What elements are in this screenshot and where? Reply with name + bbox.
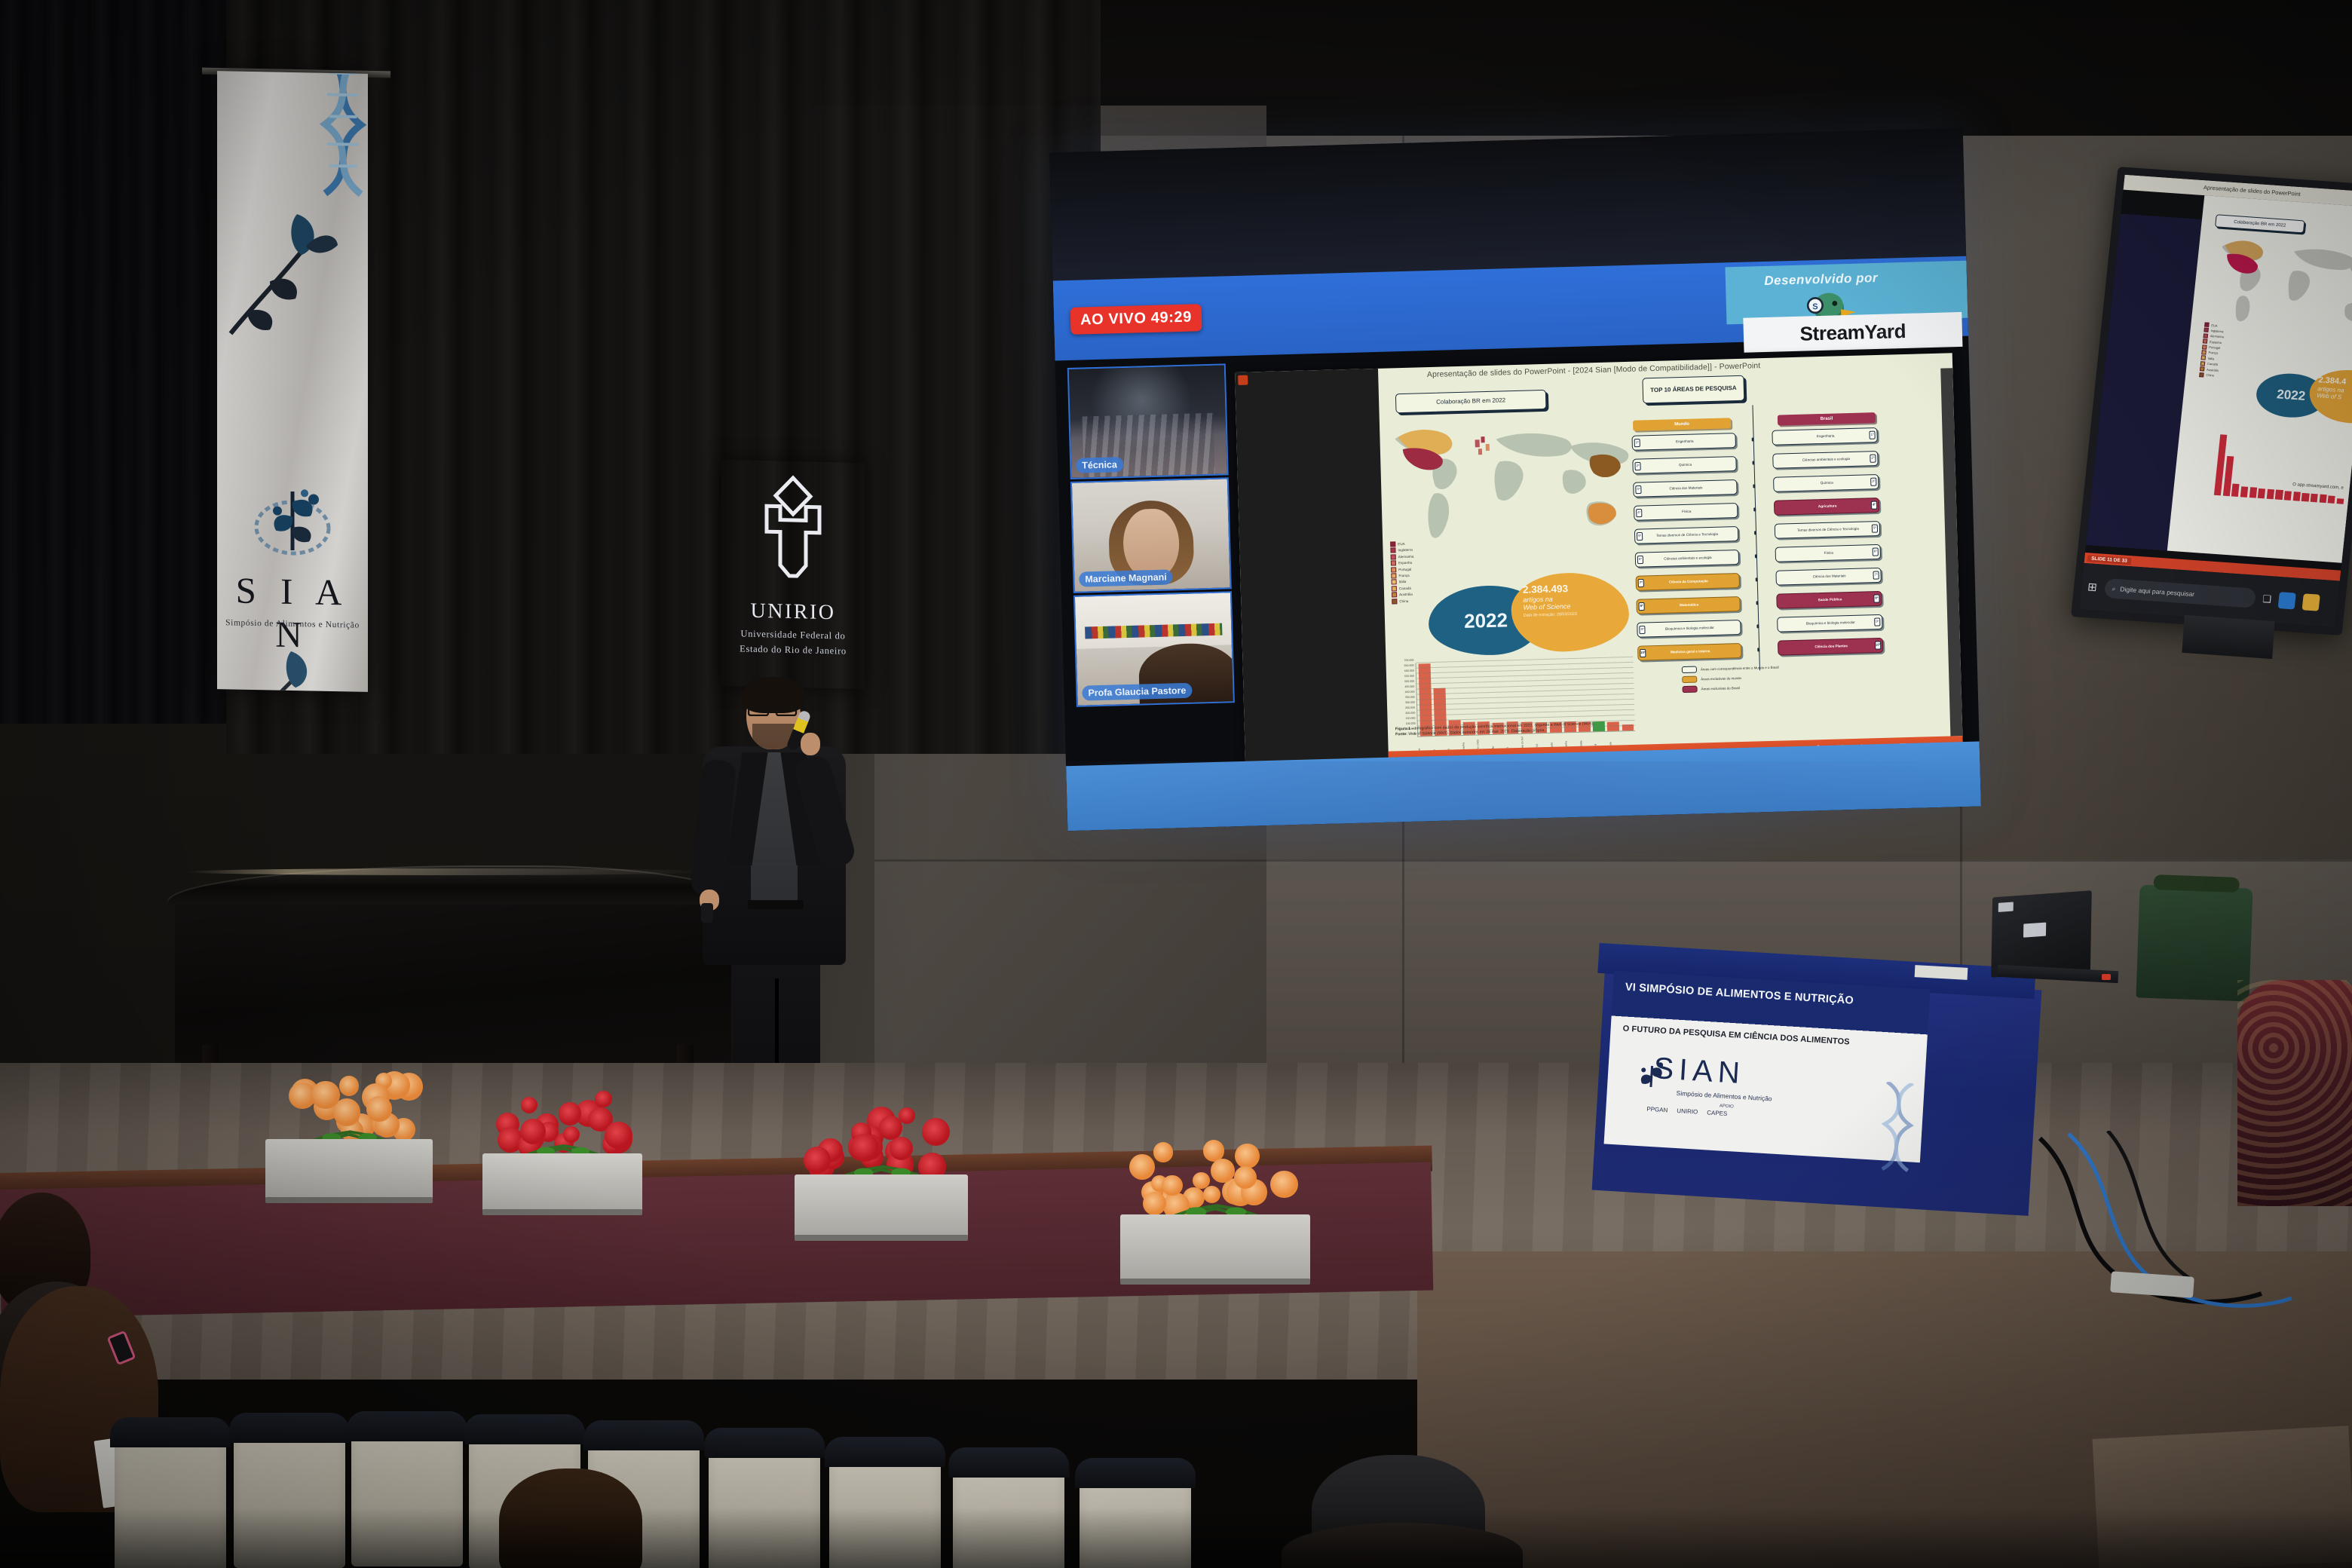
- flowchart-node-rank: 4º: [1871, 501, 1877, 510]
- monitor-chart-bar: [2275, 490, 2283, 500]
- monitor-chart-bar: [2284, 491, 2292, 501]
- map-legend-label: França: [1398, 574, 1409, 577]
- flower-bloom: [879, 1116, 902, 1139]
- laptop-sticker: [2023, 923, 2046, 938]
- grand-piano-highlight: [185, 868, 713, 875]
- table-banner-title: VI SIMPÓSIO DE ALIMENTOS E NUTRIÇÃO: [1625, 982, 1922, 1011]
- flowchart-node: 6ºCiências ambientais e ecologia: [1635, 550, 1739, 568]
- map-legend-swatch: [1391, 560, 1396, 565]
- monitor-legend-label: Espanha: [2210, 340, 2222, 345]
- map-legend-swatch: [1392, 586, 1397, 591]
- participant-name: Técnica: [1076, 457, 1123, 473]
- flowchart-connector-dot: [1755, 554, 1757, 556]
- chart-y-tick: 200.000: [1405, 712, 1415, 715]
- flowchart-legend-swatch: [1682, 666, 1697, 674]
- participant-tile[interactable]: Técnica: [1067, 363, 1229, 479]
- banner-unirio-wordmark: UNIRIO: [721, 599, 865, 626]
- flowchart-node-label: Ciências ambientais e ecologia: [1802, 458, 1850, 463]
- flowchart-legend-label: Áreas com correspondência entre o Mundo …: [1701, 665, 1779, 671]
- monitor-legend-swatch: [2203, 339, 2208, 344]
- flower-bloom: [595, 1091, 611, 1107]
- task-view-icon[interactable]: ❏: [2262, 593, 2272, 606]
- map-legend-label: Portugal: [1398, 567, 1411, 571]
- flowchart-node-rank: 3º: [1635, 485, 1641, 494]
- chart-y-tick: 600.000: [1404, 669, 1414, 672]
- monitor-legend-swatch: [2202, 345, 2207, 349]
- flowchart-header-mundo: Mundo: [1633, 418, 1731, 431]
- flowchart-node: 8ºMatemática: [1636, 596, 1740, 614]
- participant-tile[interactable]: Profa Glaucia Pastore: [1073, 591, 1235, 707]
- monitor-legend-swatch: [2200, 361, 2206, 366]
- monitor-chart-bar: [2311, 494, 2318, 503]
- monitor-chart-bar: [2292, 492, 2300, 501]
- banner-unirio-line2: Estado do Rio de Janeiro: [721, 643, 865, 657]
- flowchart-node-rank: 6º: [1873, 548, 1879, 556]
- flowchart-legend-swatch: [1682, 686, 1697, 694]
- flowchart-node-rank: 2º: [1870, 455, 1876, 463]
- map-legend-label: Alemanha: [1398, 554, 1414, 559]
- map-legend-swatch: [1390, 548, 1395, 553]
- secondary-monitor: Colaboração BR em 2022 EUAIn: [2071, 167, 2352, 635]
- taskbar-search-placeholder: Digite aqui para pesquisar: [2120, 585, 2195, 598]
- projection-screen: Desenvolvido por S StreamYard AO VIVO 49…: [1049, 128, 1981, 831]
- chart-y-tick: 400.000: [1405, 691, 1415, 694]
- monitor-map-legend: EUAInglaterraAlemanhaEspanhaPortugalFran…: [2199, 322, 2258, 381]
- flowchart-node-label: Ciência dos Plantas: [1815, 645, 1848, 649]
- monitor-legend-swatch: [2200, 366, 2205, 371]
- monitor-article-line2: Web of S: [2317, 392, 2352, 403]
- flowchart-node: 2ºQuímica: [1632, 456, 1736, 474]
- planter-box: [795, 1174, 968, 1236]
- chart-y-tick: 650.000: [1404, 664, 1414, 667]
- chart-y-tick: 150.000: [1405, 717, 1415, 720]
- svg-text:S: S: [1812, 302, 1818, 311]
- map-legend-swatch: [1391, 554, 1396, 559]
- monitor-legend-swatch: [2201, 350, 2207, 354]
- map-legend-label: Austrália: [1399, 593, 1413, 596]
- monitor-chart-bar: [2319, 494, 2326, 503]
- map-legend-swatch: [1392, 592, 1397, 597]
- laptop-power-led: [2102, 974, 2111, 980]
- chart-y-tick: 550.000: [1404, 675, 1414, 678]
- flowchart-node-rank: 10º: [1640, 649, 1646, 657]
- participant-name: Marciane Magnani: [1079, 569, 1173, 586]
- sponsor-logo: PPGAN: [1646, 1106, 1668, 1114]
- table-banner-subtitle: O FUTURO DA PESQUISA EM CIÊNCIA DOS ALIM…: [1622, 1024, 1920, 1051]
- map-legend-label: Itália: [1399, 580, 1407, 583]
- explorer-icon[interactable]: [2302, 593, 2320, 611]
- slide-canvas: Colaboração BR em 2022 TOP 10 ÁREAS DE P…: [1378, 368, 1962, 740]
- chart-y-tick: 100.000: [1406, 722, 1416, 725]
- monitor-legend-label: Inglaterra: [2210, 329, 2223, 333]
- powerpoint-window[interactable]: Apresentação de slides do PowerPoint - […: [1235, 353, 1963, 772]
- planter-box: [265, 1139, 433, 1199]
- flowchart-node-rank: 5º: [1637, 532, 1643, 541]
- top10-flowchart: Mundo Brasil 1ºEngenharia2ºQuímica3ºCiên…: [1628, 396, 1885, 704]
- monitor-screen: Colaboração BR em 2022 EUAIn: [2079, 175, 2352, 628]
- flowchart-node-rank: 2º: [1634, 462, 1640, 470]
- monitor-pill-collaboration: Colaboração BR em 2022: [2215, 214, 2305, 233]
- flowchart-node-label: Química: [1679, 463, 1692, 467]
- unirio-y-logo-icon: [752, 473, 835, 595]
- monitor-legend-label: França: [2208, 351, 2218, 355]
- monitor-chart-bar: [2240, 486, 2249, 498]
- map-legend-swatch: [1391, 567, 1396, 572]
- figure-caption-label: Figura 1 –: [1395, 727, 1414, 732]
- monitor-legend-label: China: [2206, 373, 2214, 378]
- map-legend-label: EUA: [1398, 542, 1405, 546]
- monitor-legend-swatch: [2200, 356, 2206, 360]
- flowchart-node-label: Bioquímica e biologia molecular: [1806, 620, 1855, 626]
- map-legend-swatch: [1392, 599, 1397, 604]
- green-chair: [2136, 884, 2252, 1001]
- auditorium-scene: S I A N Simpósio de Alimentos e Nutrição…: [0, 0, 2352, 1568]
- participant-tile[interactable]: Marciane Magnani: [1070, 477, 1232, 593]
- banner-unirio-line1: Universidade Federal do: [721, 628, 865, 642]
- plant-sprig-icon-lower: [222, 641, 335, 692]
- flowchart-node: 10ºCiência dos Plantas: [1778, 638, 1883, 656]
- map-legend-label: Espanha: [1398, 561, 1412, 565]
- flowchart-node-rank: 9º: [1874, 617, 1880, 626]
- flowchart-node-label: Ciência dos Materiais: [1669, 486, 1702, 491]
- brand-yard: Yard: [1864, 319, 1906, 342]
- brand-stream: Stream: [1799, 320, 1865, 345]
- map-legend-label: Inglaterra: [1398, 548, 1413, 553]
- flowchart-node-label: Física: [1682, 510, 1691, 513]
- monitor-world-map: [2208, 231, 2352, 332]
- flowchart-node: 5ºTemas diversos de Ciência e Tecnologia: [1634, 526, 1738, 544]
- flowchart-node: 2ºCiências ambientais e ecologia: [1772, 451, 1878, 469]
- flowchart-node-rank: 6º: [1637, 556, 1643, 564]
- planter-box: [1120, 1214, 1310, 1280]
- flowchart-node-label: Temas diversos de Ciência e Tecnologia: [1656, 532, 1718, 537]
- monitor-legend-label: Portugal: [2209, 345, 2220, 350]
- dna-helix-icon: [312, 71, 368, 214]
- chart-y-tick: 500.000: [1404, 680, 1414, 683]
- flowchart-legend-label: Áreas exclusivas do mundo: [1701, 676, 1741, 681]
- monitor-legend-swatch: [2203, 333, 2209, 338]
- flowchart-node-rank: 9º: [1639, 626, 1645, 634]
- flowchart-node-label: Saúde Pública: [1818, 598, 1842, 602]
- flowchart-node-label: Engenharia: [1817, 434, 1835, 438]
- article-count-line2: Web of Science: [1523, 601, 1619, 611]
- sponsor-logo: CAPES: [1707, 1109, 1728, 1117]
- flowchart-node-rank: 10º: [1875, 641, 1881, 649]
- flowchart-node: 9ºBioquímica e biologia molecular: [1777, 614, 1882, 632]
- monitor-legend-swatch: [2204, 322, 2210, 326]
- flowchart-legend: Áreas com correspondência entre o Mundo …: [1682, 662, 1856, 696]
- projection-letterbox-top: [1049, 128, 1966, 281]
- dna-helix-icon-table: [1874, 1081, 1922, 1174]
- banner-unirio: UNIRIO Universidade Federal do Estado do…: [721, 460, 865, 689]
- monitor-chart-bar: [2337, 498, 2344, 504]
- monitor-legend-swatch: [2203, 328, 2209, 332]
- map-legend: EUAInglaterraAlemanhaEspanhaPortugalFran…: [1390, 540, 1456, 605]
- map-legend-swatch: [1390, 541, 1395, 547]
- flower-planter: [1120, 1137, 1310, 1280]
- windows-start-icon[interactable]: ⊞: [2087, 580, 2097, 594]
- flowchart-node: 9ºBioquímica e biologia molecular: [1637, 620, 1741, 638]
- flowchart-node: 6ºFísica: [1775, 544, 1881, 562]
- monitor-legend-label: Canadá: [2207, 362, 2219, 366]
- flowchart-node-label: Ciência da Computação: [1669, 580, 1708, 584]
- flowchart-node: 1ºEngenharia: [1772, 427, 1877, 446]
- flower-planter: [265, 1069, 433, 1199]
- flowchart-legend-label: Áreas exclusivas do Brasil: [1701, 686, 1740, 691]
- search-icon: ⌕: [2112, 584, 2116, 593]
- flower-bloom: [1153, 1142, 1173, 1162]
- flowchart-node-rank: 3º: [1870, 478, 1876, 486]
- speaker-belt: [748, 900, 804, 909]
- flowchart-connector-dot: [1752, 437, 1754, 439]
- flowchart-node-rank: 7º: [1873, 571, 1879, 579]
- monitor-chart-bar: [2267, 489, 2274, 500]
- flowchart-node: 8ºSaúde Pública: [1776, 591, 1882, 609]
- monitor-legend-swatch: [2199, 372, 2204, 377]
- wall-seam: [874, 859, 2352, 862]
- flower-bloom: [339, 1076, 359, 1095]
- flowchart-connector-dot: [1757, 648, 1759, 650]
- eyeglasses-icon: [748, 706, 798, 716]
- participant-tile-list: Técnica Marciane Magnani Profa Glaucia P…: [1067, 363, 1235, 709]
- flowchart-connector-dot: [1756, 601, 1758, 603]
- flowchart-connector-dot: [1753, 484, 1755, 486]
- flowchart-connector-dot: [1756, 577, 1758, 580]
- table-banner-sponsors: PPGANUNIRIOCAPES: [1646, 1106, 1727, 1117]
- flowchart-connector-dot: [1753, 507, 1756, 510]
- bookshelf-backdrop: [1075, 593, 1232, 649]
- monitor-stand: [2182, 615, 2274, 659]
- monitor-legend-label: Alemanha: [2210, 334, 2225, 338]
- plant-sprig-icon: [223, 199, 344, 345]
- flowchart-node: 3ºCiência dos Materiais: [1633, 479, 1737, 498]
- pill-collaboration: Colaboração BR em 2022: [1395, 390, 1547, 413]
- flowchart-connector-dot: [1754, 531, 1756, 533]
- flower-bloom: [521, 1097, 537, 1113]
- world-map-graphic: [1386, 410, 1638, 557]
- flowchart-node-label: Bioquímica e biologia molecular: [1665, 626, 1714, 631]
- streamyard-wordmark: StreamYard: [1743, 312, 1962, 353]
- monitor-chart-bar: [2301, 492, 2309, 501]
- flowchart-node-label: Matemática: [1680, 603, 1698, 608]
- flowchart-node: 3ºQuímica: [1773, 474, 1879, 492]
- flowchart-node-label: Temas diversos de Ciência e Tecnologia: [1797, 527, 1859, 532]
- sian-emblem-icon: [247, 471, 338, 562]
- live-badge: AO VIVO 49:29: [1070, 304, 1202, 335]
- sponsor-logo: UNIRIO: [1677, 1107, 1698, 1116]
- country-bar-chart: 050.000100.000150.000200.000250.000300.0…: [1394, 657, 1636, 756]
- developed-by-label: Desenvolvido por: [1764, 271, 1878, 289]
- flowchart-legend-swatch: [1682, 676, 1697, 684]
- flowchart-header-brasil: Brasil: [1778, 412, 1876, 426]
- flowchart-spine: [1752, 405, 1760, 670]
- map-legend-swatch: [1391, 573, 1396, 578]
- audience-row-shadow: [0, 1508, 2352, 1568]
- flowchart-node-rank: 8º: [1873, 594, 1879, 602]
- chart-y-tick: 250.000: [1405, 706, 1415, 709]
- banner-sian: S I A N Simpósio de Alimentos e Nutrição: [217, 71, 368, 692]
- article-count-bubble: 2.384.493 artigos na Web of Science Data…: [1510, 571, 1630, 653]
- flowchart-node-label: Medicina geral e interna: [1671, 650, 1710, 654]
- laptop-sticker: [1998, 902, 2014, 911]
- flowchart-node-rank: 8º: [1638, 602, 1644, 611]
- monitor-chart-bar: [2249, 487, 2257, 498]
- flowchart-node-rank: 5º: [1872, 525, 1878, 533]
- monitor-legend-label: Itália: [2208, 357, 2215, 361]
- planter-box: [482, 1153, 642, 1211]
- sian-emblem-icon-table: [1634, 1056, 1671, 1092]
- powerpoint-letterbox-left: [1235, 369, 1389, 772]
- flowchart-node-rank: 4º: [1636, 509, 1642, 517]
- flowchart-node: 5ºTemas diversos de Ciência e Tecnologia: [1775, 521, 1880, 539]
- figure-source-label: Fonte:: [1395, 732, 1407, 737]
- monitor-article-bubble: 2.384.4 artigos na Web of S: [2307, 368, 2352, 426]
- flowchart-node: 7ºCiência dos Materiais: [1775, 568, 1881, 586]
- flowchart-connector-dot: [1756, 624, 1759, 626]
- monitor-chart-bar: [2231, 483, 2240, 497]
- flowchart-node-label: Física: [1824, 551, 1833, 555]
- flowchart-node-label: Engenharia: [1676, 439, 1694, 443]
- map-legend-swatch: [1392, 580, 1397, 585]
- edge-icon[interactable]: [2278, 592, 2296, 609]
- table-banner-apoio-label: APOIO: [1720, 1104, 1734, 1109]
- chart-y-tick: 300.000: [1405, 701, 1415, 704]
- article-count-line3: Data de extração: 28/03/2023: [1524, 611, 1620, 619]
- flowchart-node-label: Ciências ambientais e ecologia: [1664, 556, 1711, 562]
- monitor-chart-bar: [2258, 488, 2265, 498]
- chart-y-tick: 450.000: [1404, 685, 1414, 688]
- avatar-face: [1122, 509, 1180, 580]
- flowchart-node-rank: 7º: [1638, 579, 1644, 587]
- curtain-left: [0, 0, 226, 724]
- flowchart-node-rank: 1º: [1869, 431, 1875, 439]
- chart-y-tick: 700.000: [1404, 659, 1413, 662]
- monitor-chart-bar: [2328, 495, 2335, 504]
- flower-bloom: [1235, 1144, 1260, 1168]
- flower-planter: [482, 1086, 642, 1211]
- flowchart-node: 1ºEngenharia: [1631, 433, 1735, 451]
- flowchart-legend-row: Áreas exclusivas do Brasil: [1682, 681, 1855, 693]
- map-legend-label: Canadá: [1399, 586, 1411, 590]
- monitor-chart-bars: [2214, 432, 2350, 504]
- flowchart-node-label: Ciência dos Materiais: [1813, 574, 1846, 579]
- taskbar-search-input[interactable]: ⌕ Digite aqui para pesquisar: [2103, 578, 2256, 608]
- speaker-hand-right: [801, 733, 820, 755]
- flowchart-node: 4ºFísica: [1634, 503, 1738, 521]
- seated-person-right: [2237, 980, 2352, 1206]
- flowchart-node: 4ºAgricultura: [1774, 498, 1879, 516]
- monitor-legend-label: Austrália: [2207, 367, 2219, 372]
- map-legend-label: China: [1399, 599, 1408, 602]
- monitor-bar-chart: [2187, 421, 2350, 515]
- flowchart-node: 10ºMedicina geral e interna: [1637, 643, 1741, 661]
- participant-name: Profa Glaucia Pastore: [1082, 683, 1192, 701]
- flowchart-node-label: Química: [1821, 481, 1833, 485]
- presentation-clicker: [701, 903, 713, 923]
- flower-planter: [795, 1102, 968, 1236]
- flowchart-connector-dot: [1752, 461, 1754, 463]
- chart-y-tick: 350.000: [1405, 696, 1415, 699]
- monitor-legend-label: EUA: [2211, 323, 2218, 328]
- flowchart-node-label: Agricultura: [1818, 504, 1837, 509]
- table-banner-sian-sub: Simpósio de Alimentos e Nutrição: [1676, 1089, 1772, 1103]
- flowchart-node: 7ºCiência da Computação: [1636, 573, 1740, 591]
- flowchart-node-rank: 1º: [1634, 439, 1640, 447]
